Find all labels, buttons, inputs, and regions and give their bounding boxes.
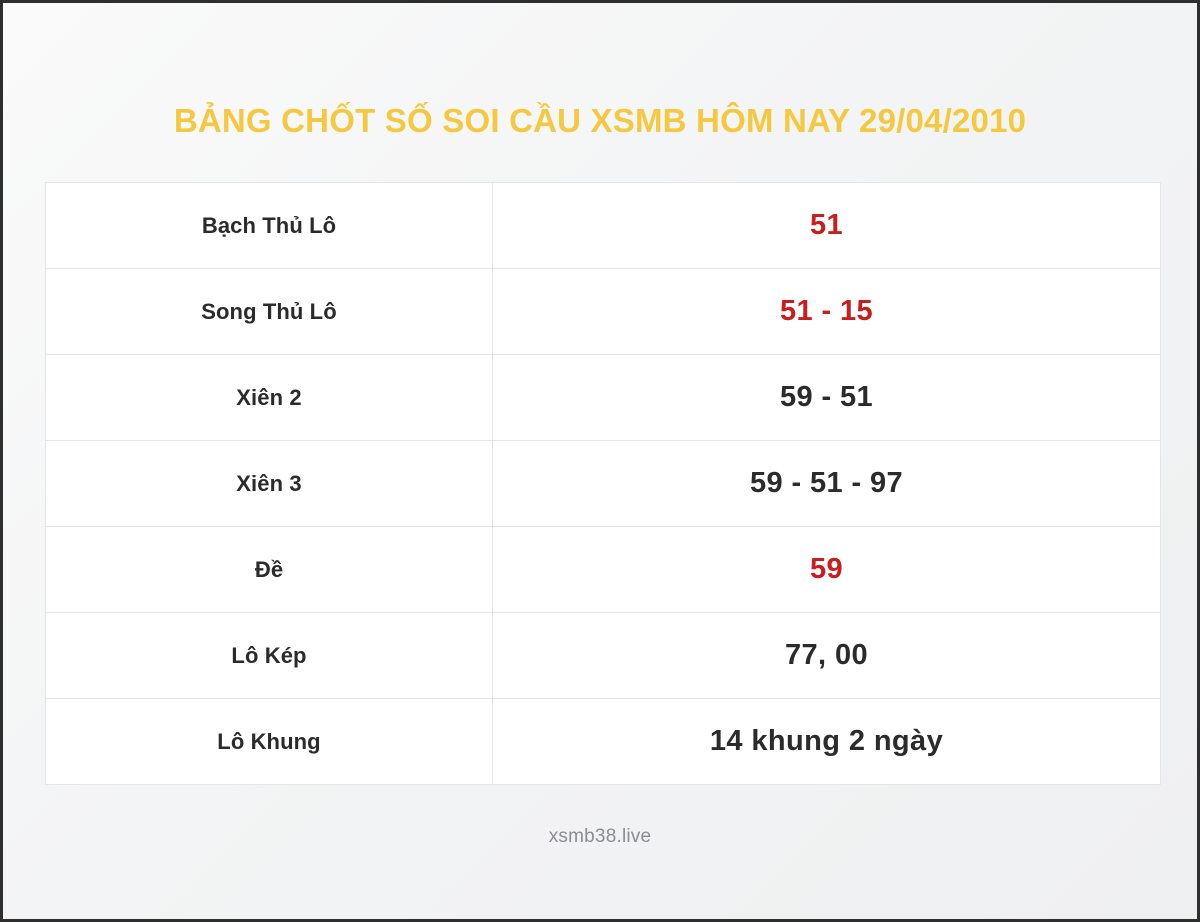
- row-value: 51 - 15: [493, 269, 1161, 355]
- table-row: Bạch Thủ Lô 51: [46, 183, 1161, 269]
- row-label: Lô Kép: [46, 613, 493, 699]
- row-value: 14 khung 2 ngày: [493, 699, 1161, 785]
- row-value: 51: [493, 183, 1161, 269]
- row-value: 77, 00: [493, 613, 1161, 699]
- table-row: Song Thủ Lô 51 - 15: [46, 269, 1161, 355]
- row-label: Xiên 3: [46, 441, 493, 527]
- row-label: Song Thủ Lô: [46, 269, 493, 355]
- row-label: Xiên 2: [46, 355, 493, 441]
- page-title: BẢNG CHỐT SỐ SOI CẦU XSMB HÔM NAY 29/04/…: [3, 99, 1197, 143]
- prediction-table: Bạch Thủ Lô 51 Song Thủ Lô 51 - 15 Xiên …: [45, 182, 1161, 785]
- table-row: Lô Kép 77, 00: [46, 613, 1161, 699]
- site-watermark: xsmb38.live: [3, 826, 1197, 848]
- prediction-table-body: Bạch Thủ Lô 51 Song Thủ Lô 51 - 15 Xiên …: [46, 183, 1161, 785]
- row-label: Đề: [46, 527, 493, 613]
- row-label: Lô Khung: [46, 699, 493, 785]
- row-label: Bạch Thủ Lô: [46, 183, 493, 269]
- table-row: Đề 59: [46, 527, 1161, 613]
- table-row: Xiên 2 59 - 51: [46, 355, 1161, 441]
- table-row: Xiên 3 59 - 51 - 97: [46, 441, 1161, 527]
- prediction-table-wrapper: Bạch Thủ Lô 51 Song Thủ Lô 51 - 15 Xiên …: [45, 182, 1161, 785]
- row-value: 59 - 51: [493, 355, 1161, 441]
- row-value: 59 - 51 - 97: [493, 441, 1161, 527]
- table-row: Lô Khung 14 khung 2 ngày: [46, 699, 1161, 785]
- page-container: BẢNG CHỐT SỐ SOI CẦU XSMB HÔM NAY 29/04/…: [0, 0, 1200, 922]
- row-value: 59: [493, 527, 1161, 613]
